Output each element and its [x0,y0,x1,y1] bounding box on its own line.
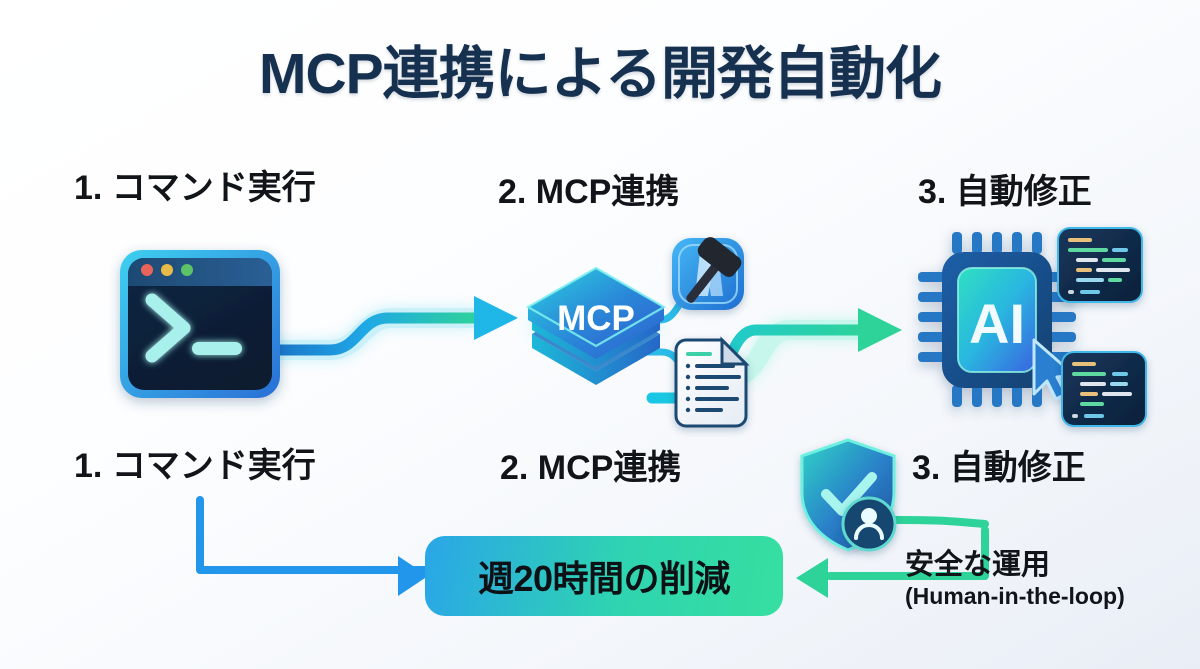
code-panel-top [1058,228,1142,302]
result-label: 週20時間の削減 [429,540,779,612]
mcp-cube-label: MCP [557,299,635,338]
mcp-cube-icon: MCP [528,268,664,385]
code-panel-bottom [1062,352,1146,426]
ai-chip-label: AI [969,292,1025,355]
result-box: 週20時間の削減 [429,540,779,612]
traffic-light-green [181,264,193,276]
xcode-hammer-icon [668,234,744,314]
diagram-canvas: MCP連携による開発自動化 1. コマンド実行 2. MCP連携 3. 自動修正… [0,0,1200,669]
ai-chip-icon: AI [918,232,1076,407]
safety-title: 安全な運用 [905,550,1125,580]
safety-subtitle: (Human-in-the-loop) [905,582,1125,611]
person-icon [843,498,895,550]
terminal-window-icon [120,250,280,398]
safety-caption-block: 安全な運用 (Human-in-the-loop) [905,550,1125,611]
document-icon [676,340,746,426]
traffic-light-yellow [161,264,173,276]
traffic-light-red [141,264,153,276]
